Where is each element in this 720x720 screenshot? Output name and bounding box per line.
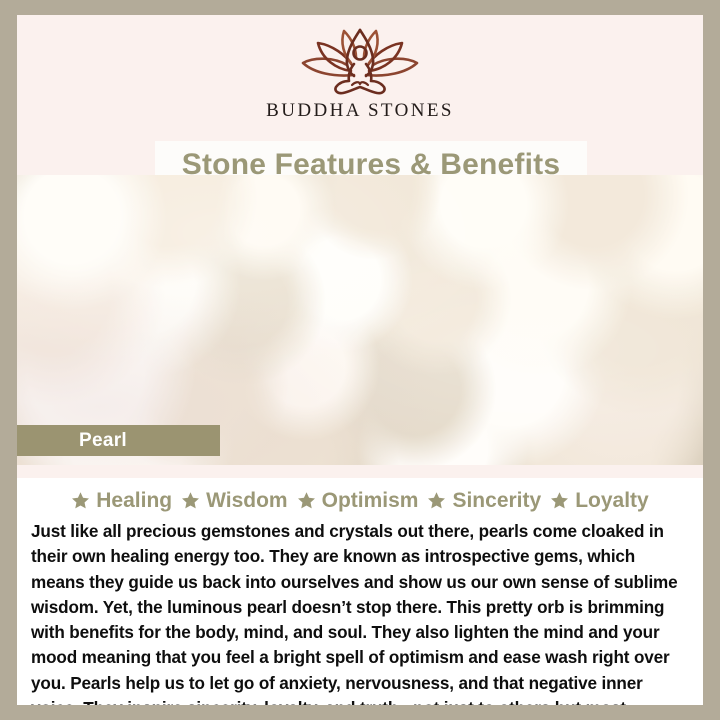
divider-strip <box>17 465 703 478</box>
keyword-item: Healing <box>71 490 172 511</box>
keyword-label: Healing <box>96 490 172 511</box>
star-icon <box>550 491 569 510</box>
content-panel: Healing Wisdom Optimism Sincerity Loyalt… <box>17 478 703 705</box>
star-icon <box>297 491 316 510</box>
keyword-item: Wisdom <box>181 490 287 511</box>
stone-name-plate: Pearl <box>17 425 220 456</box>
star-icon <box>181 491 200 510</box>
keyword-label: Sincerity <box>452 490 541 511</box>
lotus-meditation-icon <box>294 23 426 99</box>
brand-name: BUDDHA STONES <box>266 101 454 120</box>
keyword-item: Loyalty <box>550 490 649 511</box>
keyword-label: Wisdom <box>206 490 287 511</box>
hero-image: Pearl <box>17 175 703 465</box>
keyword-label: Loyalty <box>575 490 649 511</box>
keyword-item: Sincerity <box>427 490 541 511</box>
star-icon <box>427 491 446 510</box>
description-paragraph: Just like all precious gemstones and cry… <box>31 519 679 705</box>
brand-header: BUDDHA STONES <box>17 15 703 132</box>
pearl-photo <box>17 175 703 465</box>
keyword-list: Healing Wisdom Optimism Sincerity Loyalt… <box>17 478 703 515</box>
stone-name-label: Pearl <box>79 431 127 450</box>
poster-card: BUDDHA STONES Stone Features & Benefits … <box>17 15 703 705</box>
poster-root: BUDDHA STONES Stone Features & Benefits … <box>0 0 720 720</box>
keyword-label: Optimism <box>322 490 419 511</box>
star-icon <box>71 491 90 510</box>
keyword-item: Optimism <box>297 490 419 511</box>
